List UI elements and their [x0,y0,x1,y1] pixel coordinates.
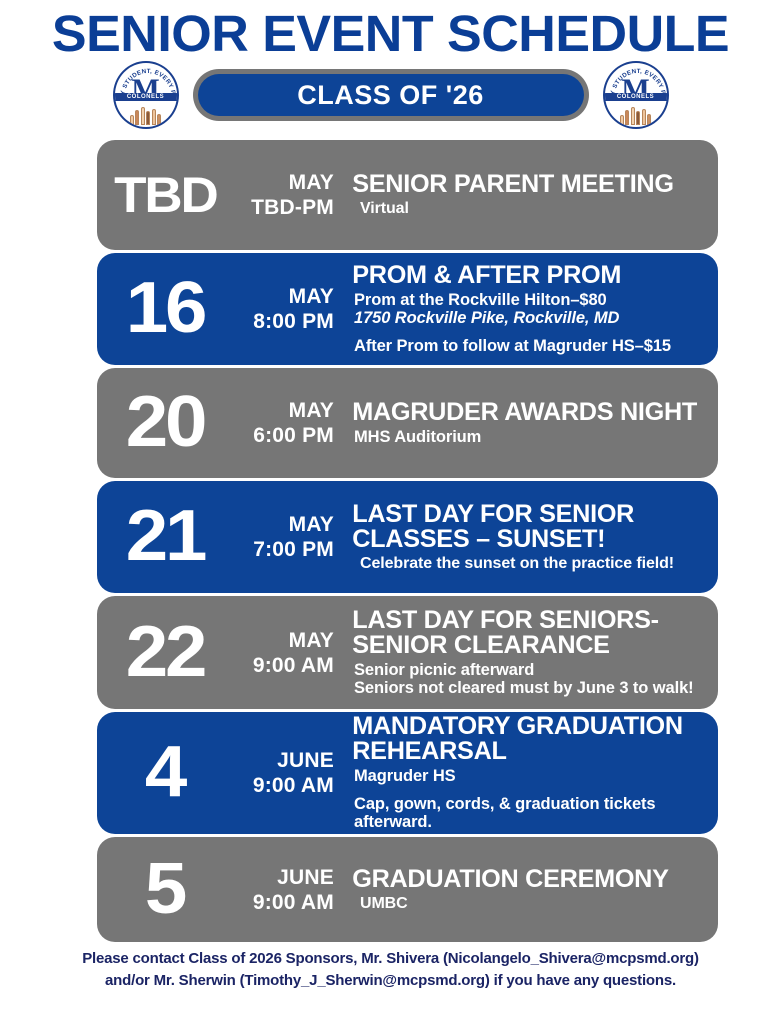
event-info-column: GRADUATION CEREMONYUMBC [342,837,718,942]
header-banner-row: EVERY STUDENT, EVERY PLACE M COLONELS CL… [0,60,781,130]
event-day-number: 21 [126,506,205,568]
event-row: 20MAY6:00 PMMAGRUDER AWARDS NIGHTMHS Aud… [97,368,718,478]
event-day-number: 22 [126,622,205,684]
event-time: TBD-PM [251,195,334,220]
event-date-column: 22 [97,596,227,709]
event-detail-line: Cap, gown, cords, & graduation tickets a… [354,795,708,832]
seal-mascot-label: COLONELS [605,93,667,101]
footer-line-1: Please contact Class of 2026 Sponsors, M… [22,948,759,969]
event-info-column: LAST DAY FOR SENIOR CLASSES – SUNSET!Cel… [342,481,718,593]
event-when-column: JUNE9:00 AM [227,712,342,834]
event-detail-line: Virtual [354,200,708,218]
class-of-label: CLASS OF '26 [297,82,483,109]
event-info-column: LAST DAY FOR SENIORS- SENIOR CLEARANCESe… [342,596,718,709]
event-when-column: MAYTBD-PM [227,140,342,250]
event-date-column: 4 [97,712,227,834]
event-when-column: MAY6:00 PM [227,368,342,478]
event-date-column: TBD [97,140,227,250]
event-detail-line: Magruder HS [354,767,708,785]
event-time: 9:00 AM [253,653,334,678]
event-row: 21MAY7:00 PMLAST DAY FOR SENIOR CLASSES … [97,481,718,593]
event-when-column: JUNE9:00 AM [227,837,342,942]
event-row: TBDMAYTBD-PMSENIOR PARENT MEETINGVirtual [97,140,718,250]
event-info-column: MAGRUDER AWARDS NIGHTMHS Auditorium [342,368,718,478]
event-time: 7:00 PM [253,537,334,562]
event-when-column: MAY7:00 PM [227,481,342,593]
event-row: 5JUNE9:00 AMGRADUATION CEREMONYUMBC [97,837,718,942]
event-detail-line: After Prom to follow at Magruder HS–$15 [354,337,708,355]
footer-line-2: and/or Mr. Sherwin (Timothy_J_Sherwin@mc… [22,970,759,991]
event-detail-line: Prom at the Rockville Hilton–$80 [354,291,708,309]
footer-contact-note: Please contact Class of 2026 Sponsors, M… [0,948,781,991]
event-info-column: MANDATORY GRADUATION REHEARSALMagruder H… [342,712,718,834]
event-month: JUNE [277,749,334,773]
event-time: 6:00 PM [253,423,334,448]
event-detail-line: Celebrate the sunset on the practice fie… [354,555,708,573]
event-info-column: PROM & AFTER PROMProm at the Rockville H… [342,253,718,365]
event-detail-line: Senior picnic afterward [354,661,708,679]
event-title: SENIOR PARENT MEETING [352,172,710,197]
event-time: 9:00 AM [253,890,334,915]
event-day-number: 5 [145,859,184,921]
poster-header: SENIOR EVENT SCHEDULE EVERY STUDENT, EVE… [0,0,781,132]
event-day-number: TBD [114,174,217,217]
event-date-column: 16 [97,253,227,365]
event-day-number: 20 [126,392,205,454]
event-detail-line: MHS Auditorium [354,428,708,446]
class-of-banner: CLASS OF '26 [193,69,589,121]
event-info-column: SENIOR PARENT MEETINGVirtual [342,140,718,250]
event-list: TBDMAYTBD-PMSENIOR PARENT MEETINGVirtual… [97,140,718,945]
event-date-column: 21 [97,481,227,593]
event-title: PROM & AFTER PROM [352,263,710,288]
event-row: 4JUNE9:00 AMMANDATORY GRADUATION REHEARS… [97,712,718,834]
event-month: MAY [289,171,334,195]
page-title: SENIOR EVENT SCHEDULE [0,8,781,59]
event-when-column: MAY9:00 AM [227,596,342,709]
seal-mascot-label: COLONELS [115,93,177,101]
school-seal-icon-left: EVERY STUDENT, EVERY PLACE M COLONELS [113,61,179,129]
event-detail-line: UMBC [354,895,708,913]
event-title: MANDATORY GRADUATION REHEARSAL [352,714,710,764]
event-when-column: MAY8:00 PM [227,253,342,365]
event-month: MAY [289,399,334,423]
senior-event-schedule-poster: SENIOR EVENT SCHEDULE EVERY STUDENT, EVE… [0,0,781,1009]
event-date-column: 5 [97,837,227,942]
event-month: MAY [289,629,334,653]
event-title: MAGRUDER AWARDS NIGHT [352,400,710,425]
event-date-column: 20 [97,368,227,478]
event-title: LAST DAY FOR SENIORS- SENIOR CLEARANCE [352,608,710,658]
event-title: LAST DAY FOR SENIOR CLASSES – SUNSET! [352,502,710,552]
event-month: MAY [289,285,334,309]
seal-circle: EVERY STUDENT, EVERY PLACE M COLONELS [603,61,669,129]
seal-hands-icon [605,103,667,125]
seal-circle: EVERY STUDENT, EVERY PLACE M COLONELS [113,61,179,129]
event-time: 8:00 PM [253,309,334,334]
event-month: MAY [289,513,334,537]
seal-hands-icon [115,103,177,125]
event-time: 9:00 AM [253,773,334,798]
event-title: GRADUATION CEREMONY [352,867,710,892]
event-row: 22MAY9:00 AMLAST DAY FOR SENIORS- SENIOR… [97,596,718,709]
event-row: 16MAY8:00 PMPROM & AFTER PROMProm at the… [97,253,718,365]
event-day-number: 4 [145,742,184,804]
event-detail-line: 1750 Rockville Pike, Rockville, MD [354,309,708,327]
event-month: JUNE [277,866,334,890]
school-seal-icon-right: EVERY STUDENT, EVERY PLACE M COLONELS [603,61,669,129]
event-detail-line: Seniors not cleared must by June 3 to wa… [354,679,708,697]
class-of-banner-inner: CLASS OF '26 [198,74,584,116]
event-day-number: 16 [126,278,205,340]
